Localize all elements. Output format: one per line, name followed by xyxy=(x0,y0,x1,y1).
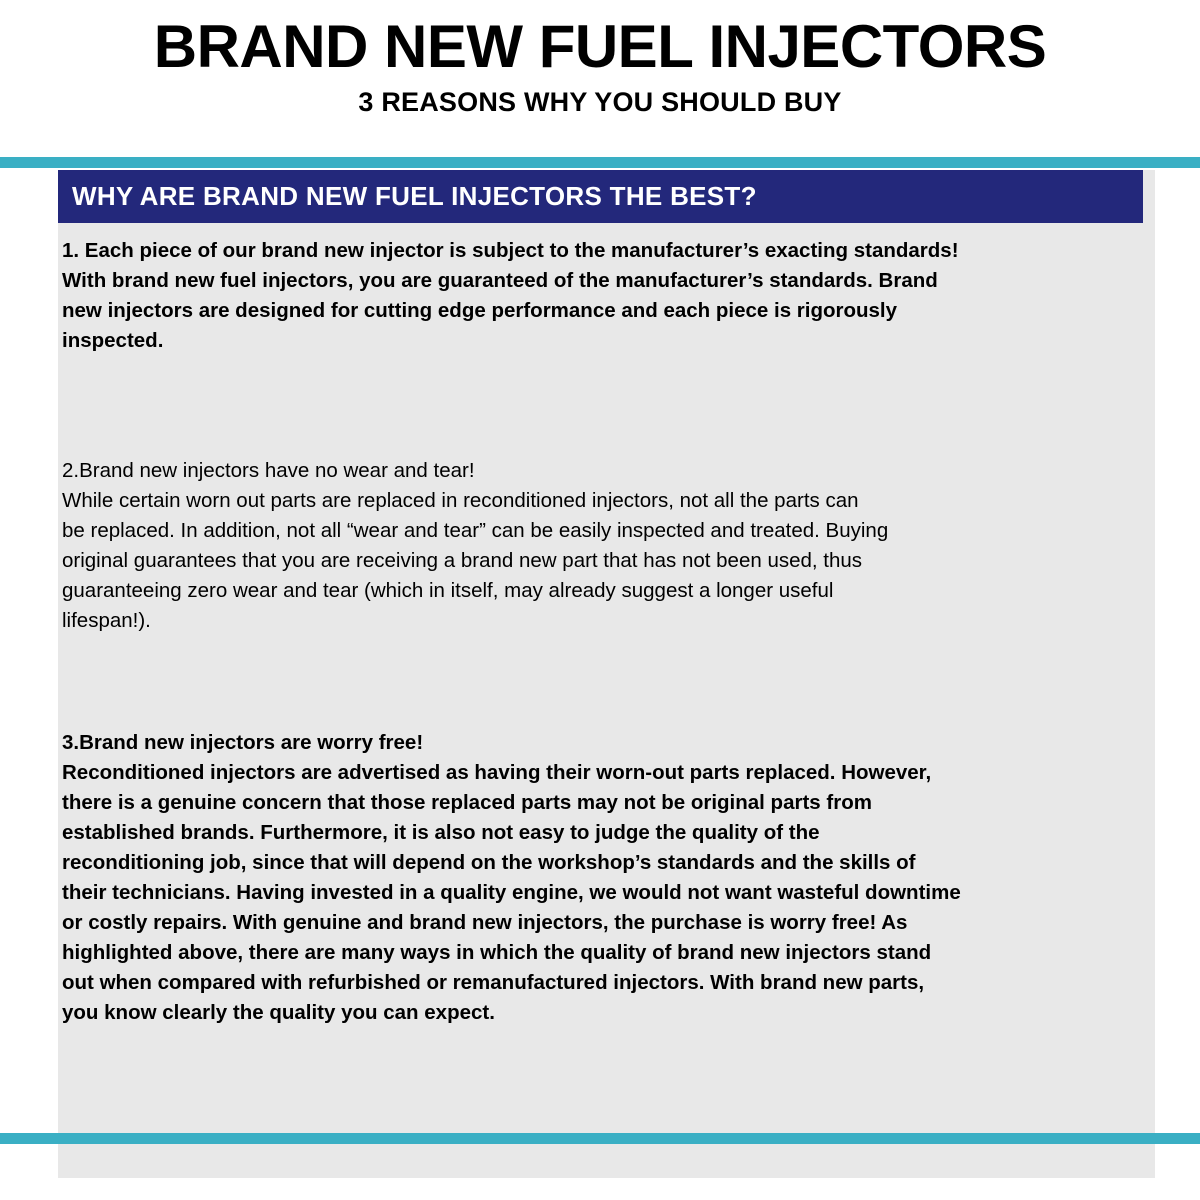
section-header-bar: WHY ARE BRAND NEW FUEL INJECTORS THE BES… xyxy=(58,170,1143,223)
masthead: BRAND NEW FUEL INJECTORS 3 REASONS WHY Y… xyxy=(0,0,1200,117)
teal-divider-top xyxy=(0,157,1200,168)
page-subtitle: 3 REASONS WHY YOU SHOULD BUY xyxy=(0,88,1200,118)
reason-item-1: 1. Each piece of our brand new injector … xyxy=(62,236,1167,356)
reason-item-2: 2.Brand new injectors have no wear and t… xyxy=(62,456,1167,636)
teal-divider-bottom xyxy=(0,1133,1200,1144)
reasons-list: 1. Each piece of our brand new injector … xyxy=(62,236,1167,1028)
section-header-label: WHY ARE BRAND NEW FUEL INJECTORS THE BES… xyxy=(58,181,757,212)
page-title: BRAND NEW FUEL INJECTORS xyxy=(0,16,1200,78)
reason-item-3: 3.Brand new injectors are worry free! Re… xyxy=(62,728,1167,1028)
reason-spacer-1 xyxy=(62,356,1167,456)
reason-spacer-2 xyxy=(62,636,1167,728)
